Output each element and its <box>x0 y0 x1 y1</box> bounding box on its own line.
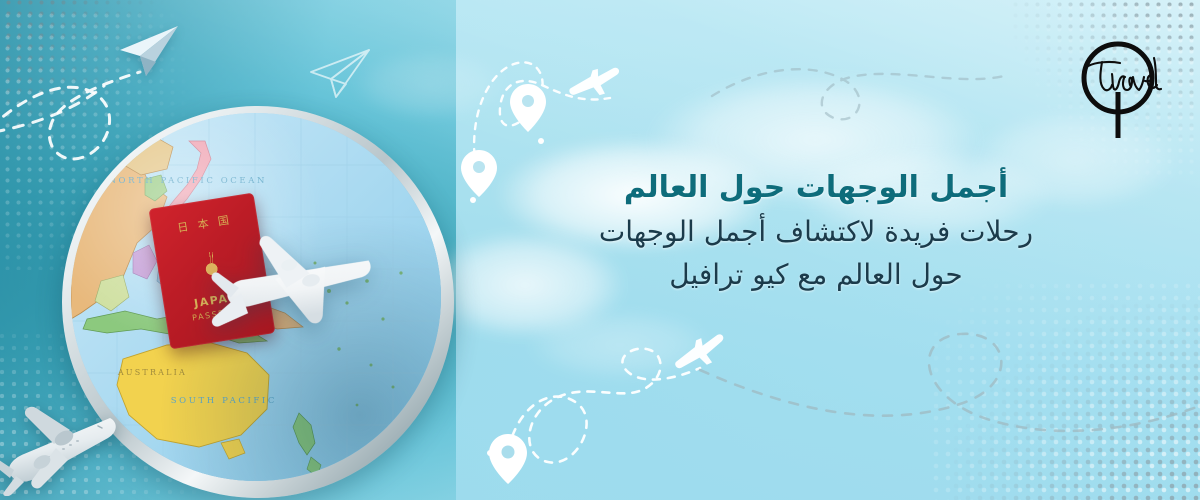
halftone-pattern-bottom-right <box>950 300 1200 500</box>
hero-copy-block: أجمل الوجهات حول العالم رحلات فريدة لاكت… <box>496 168 1136 295</box>
airplane-icon <box>566 63 624 102</box>
q-travel-logo[interactable] <box>1066 34 1178 146</box>
country-label: AUSTRALIA <box>117 368 187 377</box>
dashed-flight-path <box>712 69 1004 119</box>
paper-plane-icon <box>112 24 180 80</box>
logo-pin-stem-icon <box>1116 92 1121 138</box>
map-pin-icon <box>489 434 527 484</box>
airplane-icon <box>670 330 731 377</box>
airplane-illustration <box>0 400 124 496</box>
cloud-shape <box>500 300 740 390</box>
halftone-pattern-bottom-right-light <box>930 280 1200 500</box>
map-pin-icon <box>510 84 546 132</box>
dashed-flight-path <box>474 62 610 168</box>
page-title: أجمل الوجهات حول العالم <box>496 168 1136 208</box>
dashed-flight-path <box>508 349 700 463</box>
map-pin-icon <box>461 150 497 197</box>
paper-plane-outline-icon <box>305 44 373 102</box>
subtitle-line-1: رحلات فريدة لاكتشاف أجمل الوجهات <box>496 212 1136 252</box>
ocean-label: SOUTH PACIFIC <box>171 396 277 406</box>
travel-hero-banner: NORTH PACIFIC OCEAN SOUTH PACIFIC AUSTRA… <box>0 0 1200 500</box>
subtitle-line-2: حول العالم مع كيو ترافيل <box>496 255 1136 295</box>
ocean-label: NORTH PACIFIC OCEAN <box>109 176 268 186</box>
dashed-flight-path <box>700 334 1200 431</box>
